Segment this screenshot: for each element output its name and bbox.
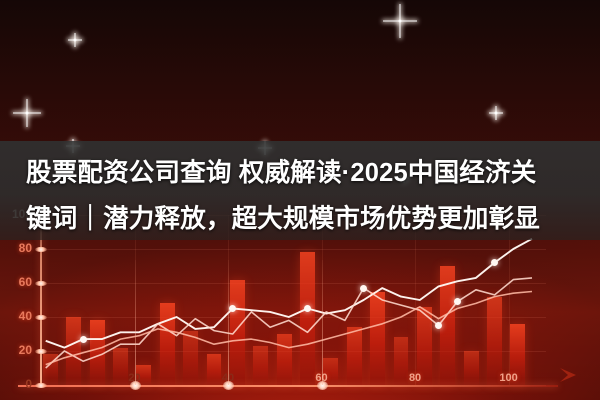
sparkle-icon bbox=[489, 106, 503, 120]
data-point-marker bbox=[80, 336, 87, 343]
y-axis-label: 80 bbox=[2, 241, 32, 255]
sparkle-icon bbox=[383, 4, 417, 38]
chart-x-axis bbox=[18, 385, 558, 387]
y-axis-label: 40 bbox=[2, 309, 32, 323]
x-axis-marker-stem bbox=[322, 260, 323, 385]
data-point-marker bbox=[454, 298, 461, 305]
data-point-marker bbox=[360, 285, 367, 292]
y-axis-label: 20 bbox=[2, 343, 32, 357]
data-point-marker bbox=[435, 322, 442, 329]
x-axis-marker-stem bbox=[228, 260, 229, 385]
x-axis-label: 80 bbox=[395, 372, 435, 384]
x-axis-marker-stem bbox=[135, 260, 136, 385]
sparkle-icon bbox=[68, 33, 82, 47]
page-title-line-2: 键词｜潜力释放，超大规模市场优势更加彰显 bbox=[26, 196, 574, 242]
page-title: 股票配资公司查询 权威解读·2025中国经济关 键词｜潜力释放，超大规模市场优势… bbox=[0, 150, 600, 242]
y-axis-label: 0 bbox=[2, 377, 32, 391]
x-axis-label: 100 bbox=[489, 372, 529, 384]
data-point-marker bbox=[304, 305, 311, 312]
chart-line bbox=[46, 239, 532, 348]
y-axis-tick bbox=[35, 247, 47, 252]
chart-line bbox=[46, 278, 532, 368]
page-title-line-1: 股票配资公司查询 权威解读·2025中国经济关 bbox=[26, 150, 574, 196]
sparkle-icon bbox=[13, 99, 41, 127]
y-axis-tick bbox=[35, 349, 47, 354]
y-axis-tick bbox=[35, 315, 47, 320]
arrow-right-icon bbox=[546, 364, 576, 386]
y-axis-tick bbox=[35, 383, 47, 388]
poster-canvas: 020406080100 20406080100 股票配资公司查询 权威解读·2… bbox=[0, 0, 600, 400]
y-axis-label: 60 bbox=[2, 275, 32, 289]
y-axis-tick bbox=[35, 281, 47, 286]
